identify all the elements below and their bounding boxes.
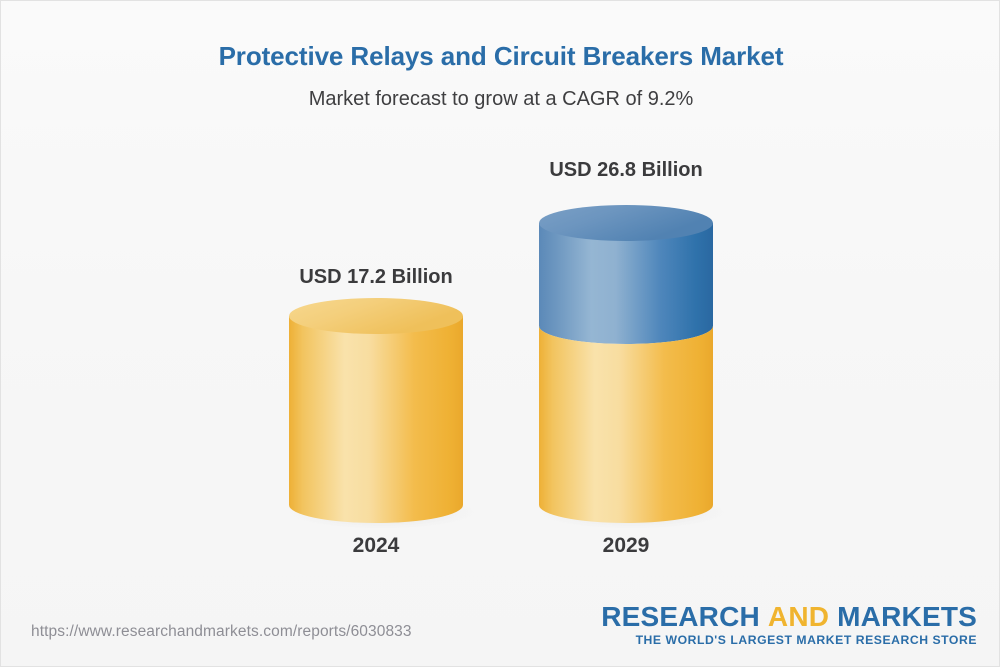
logo-and-text: AND [768, 601, 829, 632]
logo-markets-text: MARKETS [837, 601, 977, 632]
bar-2024-top [289, 298, 463, 334]
bar-2029 [538, 205, 726, 529]
research-and-markets-logo[interactable]: RESEARCH AND MARKETS THE WORLD'S LARGEST… [601, 602, 977, 647]
category-label-2024: 2024 [276, 534, 476, 558]
plot-area: USD 17.2 Billion USD 26.8 Billion 2024 2… [1, 1, 1000, 667]
category-label-2029: 2029 [526, 534, 726, 558]
bar-2024-body [289, 316, 463, 523]
bar-2029-top [539, 205, 713, 241]
cylinder-bars-svg [1, 1, 1000, 667]
logo-research-text: RESEARCH [601, 601, 760, 632]
data-label-2024: USD 17.2 Billion [276, 266, 476, 289]
logo-tagline: THE WORLD'S LARGEST MARKET RESEARCH STOR… [601, 633, 977, 647]
bar-2029-gold-segment [539, 326, 713, 523]
chart-canvas: Protective Relays and Circuit Breakers M… [0, 0, 1000, 667]
data-label-2029: USD 26.8 Billion [526, 159, 726, 182]
source-url[interactable]: https://www.researchandmarkets.com/repor… [31, 623, 412, 641]
bar-2029-blue-segment [539, 223, 713, 344]
bar-2024 [288, 298, 476, 529]
logo-wordmark: RESEARCH AND MARKETS [601, 602, 977, 631]
